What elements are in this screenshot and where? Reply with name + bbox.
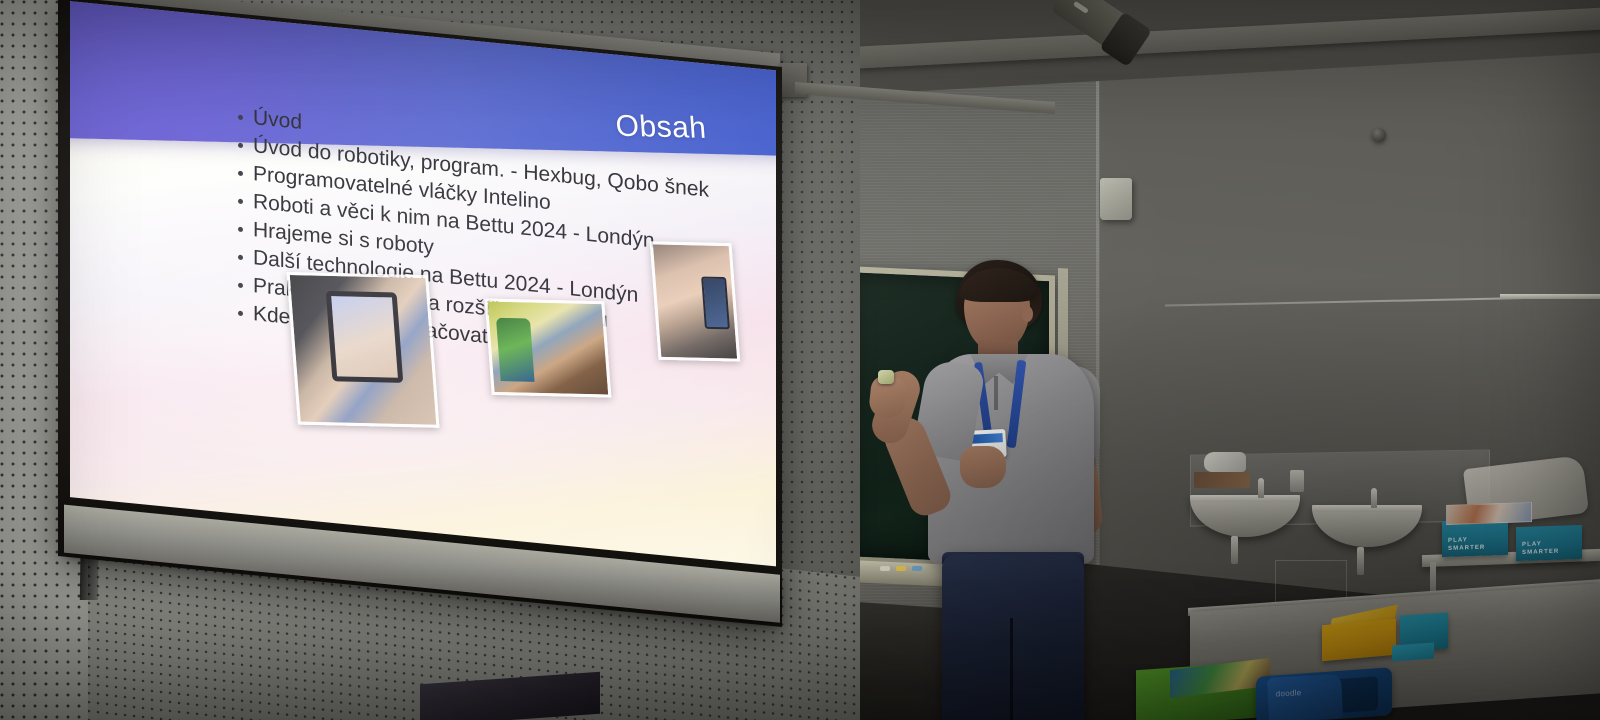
faucet-left[interactable] [1258, 478, 1264, 498]
box-artwork [1446, 502, 1532, 525]
slide-photo-group [70, 1, 776, 566]
sink-drain-pipe [1231, 536, 1238, 564]
child-shape [496, 318, 535, 382]
slide-canvas: Obsah Úvod Úvod do robotiky, program. - … [70, 1, 776, 566]
presenter [860, 258, 1110, 720]
slide-photo-tablet-ar [287, 272, 440, 428]
slide-photo-classroom-kids [485, 298, 612, 397]
faucet-right[interactable] [1371, 488, 1377, 508]
presenter-jeans [942, 554, 1084, 720]
presentation-clicker[interactable] [878, 370, 894, 384]
classroom-photo-scene: PLAY SMARTER PLAY SMARTER Obsah Úvod [0, 0, 1600, 720]
metal-cup[interactable] [1290, 470, 1304, 492]
box-label-line2: SMARTER [1448, 544, 1485, 553]
sink-drain-pipe [1357, 547, 1364, 575]
phone-shape [701, 277, 731, 329]
tablet-shape [326, 290, 403, 383]
play-smarter-box[interactable]: PLAY SMARTER [1442, 519, 1508, 557]
blue-bag[interactable]: doodle [1267, 674, 1343, 720]
projection-screen[interactable]: Obsah Úvod Úvod do robotiky, program. - … [58, 0, 782, 627]
teal-box-small[interactable] [1392, 643, 1434, 662]
play-smarter-box[interactable]: PLAY SMARTER [1516, 525, 1582, 561]
ceiling-sensor-icon [1372, 128, 1386, 142]
spotlight-vent [1073, 1, 1089, 14]
sink-shelf-item[interactable] [1204, 452, 1246, 472]
sink-shelf-box[interactable] [1194, 472, 1250, 488]
box-label-line2: SMARTER [1522, 548, 1559, 557]
presenter-placket [994, 376, 998, 410]
play-smarter-label: PLAY SMARTER [1448, 537, 1485, 553]
sink-rim [1312, 505, 1422, 512]
yellow-box[interactable] [1322, 619, 1396, 661]
play-smarter-label: PLAY SMARTER [1522, 541, 1559, 557]
wall-dispenser[interactable] [1100, 178, 1132, 220]
presenter-right-hand [960, 446, 1006, 488]
presenter-ear [1022, 306, 1033, 322]
slide-photo-phone-ar [650, 241, 741, 361]
wall-rail [1500, 294, 1600, 299]
presenter-leg-seam [1010, 618, 1013, 720]
blue-bag-label: doodle [1276, 688, 1302, 698]
sink-rim [1190, 495, 1300, 502]
